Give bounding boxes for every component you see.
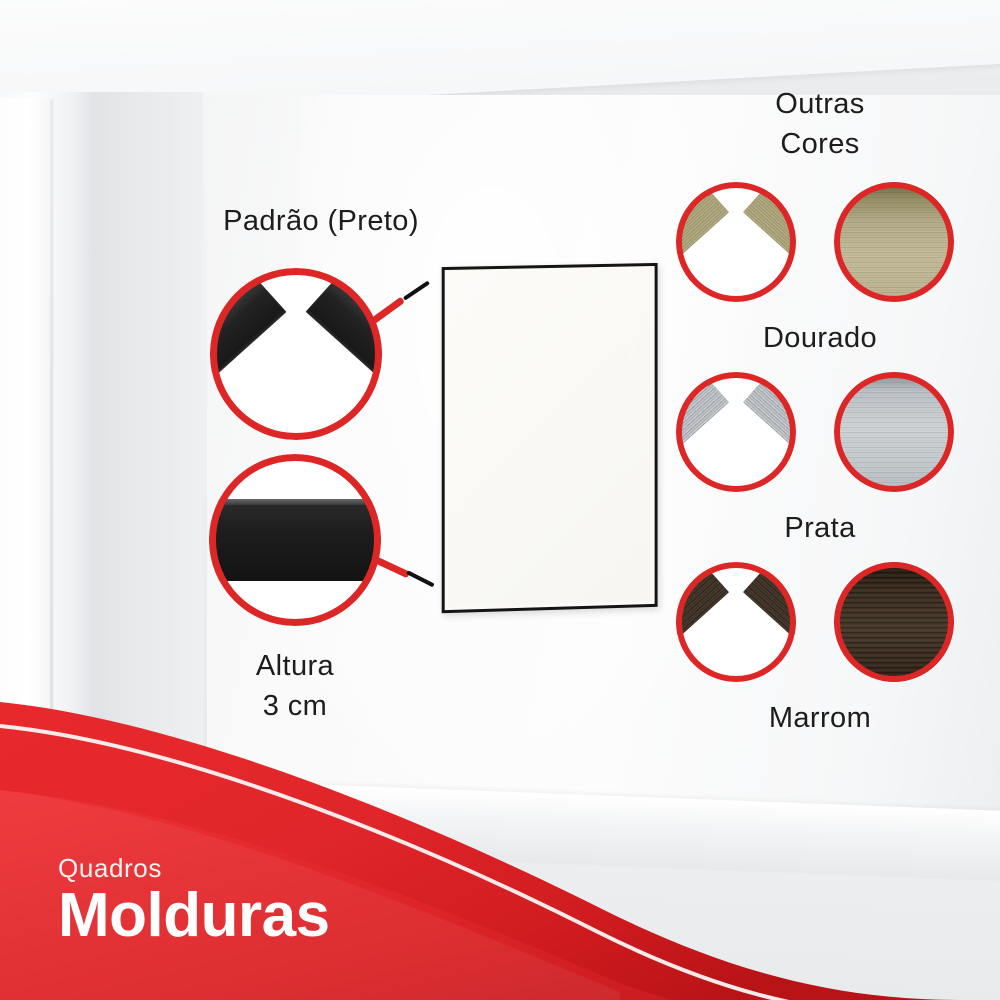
brand-name: Molduras <box>58 883 330 948</box>
frame-corner-chevron-icon <box>676 372 796 492</box>
badge-fill <box>210 268 382 440</box>
color-label-dourado: Dourado <box>700 322 940 355</box>
frame-border <box>442 263 658 613</box>
badge-fill <box>676 372 796 492</box>
brand-lockup: Quadros Molduras <box>58 855 330 948</box>
gold-frame-corner-badge <box>676 182 796 302</box>
frame-height-badge <box>209 454 381 626</box>
frame-mat <box>448 269 652 607</box>
frame-corner-chevron-icon <box>676 182 796 302</box>
color-label-prata: Prata <box>700 512 940 545</box>
gold-texture-swatch <box>834 182 954 302</box>
other-colors-heading-line1: Outras <box>700 88 940 121</box>
brand-kicker: Quadros <box>58 855 330 881</box>
picture-frame <box>442 265 658 610</box>
frame-corner-chevron-icon <box>210 268 382 440</box>
frame-profile-highlight <box>209 499 381 505</box>
frame-profile-bar-icon <box>209 499 381 582</box>
silver-frame-corner-badge <box>676 372 796 492</box>
silver-texture-swatch <box>834 372 954 492</box>
badge-fill <box>834 182 954 302</box>
standard-color-label: Padrão (Preto) <box>196 205 446 238</box>
badge-fill <box>676 182 796 302</box>
black-frame-corner-badge <box>210 268 382 440</box>
silver-swatch-badge <box>834 372 954 492</box>
badge-fill <box>834 372 954 492</box>
product-infographic: Padrão (Preto) Altura 3 cm Outras Cores <box>0 0 1000 1000</box>
gold-swatch-badge <box>834 182 954 302</box>
other-colors-heading-line2: Cores <box>700 128 940 161</box>
badge-fill <box>209 454 381 626</box>
